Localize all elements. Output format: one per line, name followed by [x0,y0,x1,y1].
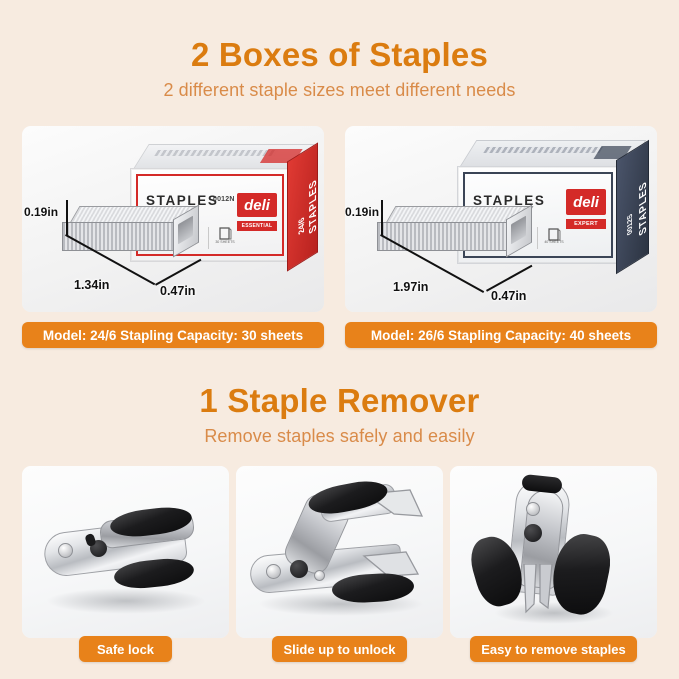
product-photo-red-box: STAPLES 0012N 24/6 No.3 1000 PCS Sharp T… [22,126,324,312]
remover-rivet [526,502,540,516]
carton-side-code: 24/6 [297,215,306,236]
spec-label-right: Model: 26/6 Stapling Capacity: 40 sheets [345,322,657,348]
carton-side-code: 0012S [627,212,634,237]
remover-rivet-b [314,570,325,581]
product-photo-navy-box: STAPLES 0012S 1000 PCS Sharp Tips [345,126,657,312]
brand-badge: ESSENTIAL [237,221,277,231]
carton-icon-label-2: 40 SHEETS [538,240,570,244]
remover-caption-3: Easy to remove staples [470,636,637,662]
carton-side-face: STAPLES 24/6 [287,142,318,271]
carton-code-text: 0012N [213,196,235,203]
staple-remover-open [236,466,443,638]
dim-height-label: 0.19in [345,205,379,219]
spec-label-left: Model: 24/6 Stapling Capacity: 30 sheets [22,322,324,348]
staple-strip-right [377,206,537,268]
remover-photo-open [236,466,443,638]
staple-box-photo-right: STAPLES 0012S 1000 PCS Sharp Tips [345,126,657,312]
dim-length-label: 1.97in [393,280,428,294]
dim-depth-label: 0.47in [160,284,195,298]
carton-icon-cell-2: 40 SHEETS [537,227,570,249]
carton-side-title: STAPLES [638,178,649,237]
brand-badge: EXPERT [566,219,606,229]
remover-photo-closed [22,466,229,638]
staple-remover-front [450,466,657,638]
brand-logo-deli: deli [566,189,606,215]
infographic-page: 2 Boxes of Staples 2 different staple si… [0,0,679,679]
staple-box-photo-left: STAPLES 0012N 24/6 No.3 1000 PCS Sharp T… [22,126,324,312]
staple-strip-left [62,206,198,268]
remover-jaws-front-icon [512,564,566,616]
remover-rivet [58,543,73,558]
remover-pivot-lock [290,560,308,578]
carton-icon-label-2: 30 SHEETS [209,240,241,244]
remover-photo-front [450,466,657,638]
remover-lock-slider [524,524,542,542]
brand-logo-deli: deli [237,193,277,217]
dim-depth-label: 0.47in [491,289,526,303]
dim-length-label: 1.34in [74,278,109,292]
remover-caption-2: Slide up to unlock [272,636,407,662]
staple-remover-closed [22,466,229,638]
sheets-stack-icon [218,227,232,240]
dim-height-label: 0.19in [24,205,58,219]
carton-side-title: STAPLES [308,176,319,235]
remover-section-subtitle: Remove staples safely and easily [0,426,679,447]
remover-rivet-a [266,564,281,579]
staple-strip-front [62,222,176,251]
remover-section-title: 1 Staple Remover [0,382,679,420]
staples-section-subtitle: 2 different staple sizes meet different … [0,80,679,101]
staple-strip-front [377,222,509,251]
staples-section-title: 2 Boxes of Staples [0,36,679,74]
carton-side-face: STAPLES 0012S [616,140,649,275]
remover-caption-1: Safe lock [79,636,172,662]
